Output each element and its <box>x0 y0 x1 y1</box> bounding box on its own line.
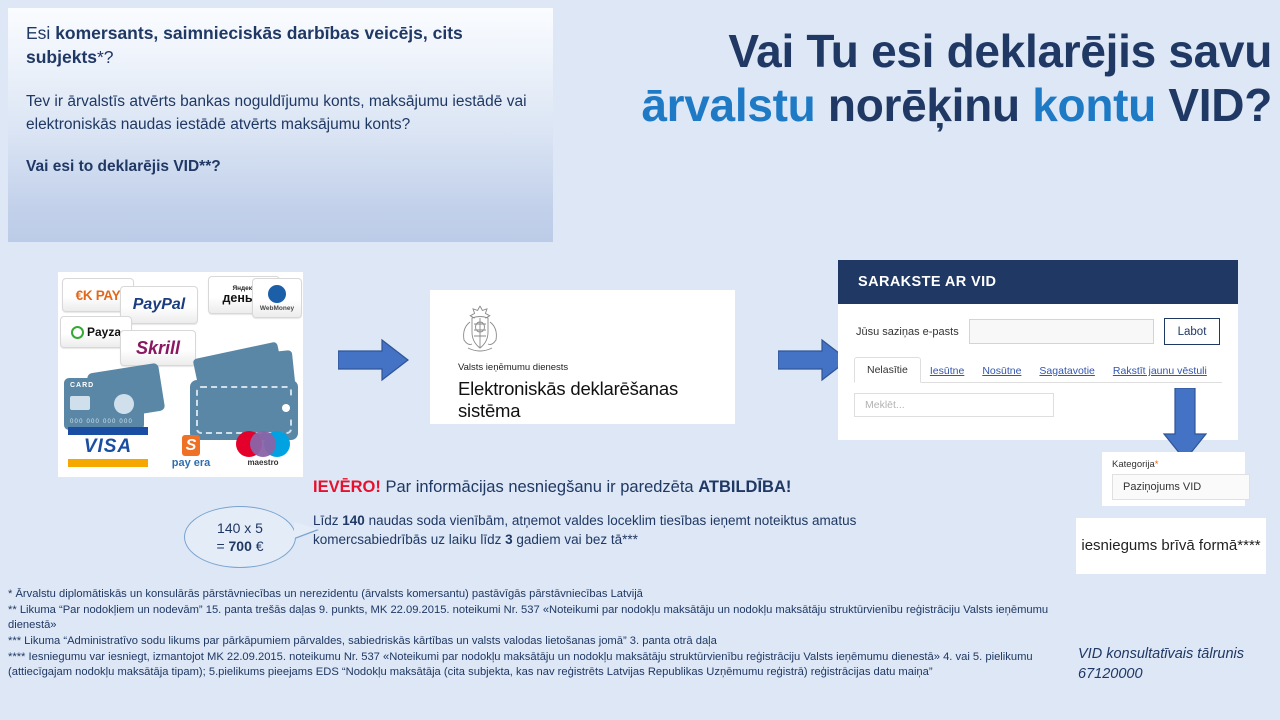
penalty-years: 3 <box>505 532 513 547</box>
headline-part-5: VID? <box>1156 79 1272 131</box>
intro-body-text: Tev ir ārvalstīs atvērts bankas noguldīj… <box>26 91 535 136</box>
webmoney-label: WebMoney <box>260 305 294 312</box>
visa-top-bar <box>68 427 148 435</box>
tab-sagatavotie[interactable]: Sagatavotie <box>1030 360 1103 382</box>
webmoney-globe-icon <box>268 285 286 303</box>
penalty-calculation-bubble: 140 x 5 = 700 € <box>184 506 296 568</box>
headline-part-3: norēķinu <box>815 79 1032 131</box>
visa-bottom-bar <box>68 459 148 467</box>
page-title: Vai Tu esi deklarējis savu ārvalstu norē… <box>566 24 1272 133</box>
penalty-post: gadiem vai bez tā*** <box>513 532 638 547</box>
tab-nelasitie[interactable]: Nelasītie <box>854 357 921 383</box>
card-chip-icon <box>70 396 90 410</box>
kategorija-select[interactable]: Paziņojums VID <box>1112 474 1250 500</box>
intro-question-box: Esi komersants, saimnieciskās darbības v… <box>8 8 553 242</box>
vid-email-label: Jūsu saziņas e-pasts <box>856 326 959 338</box>
notice-warning-word: IEVĒRO! <box>313 478 381 496</box>
bank-cards-illustration: CARD 000 000 000 000 <box>64 368 164 434</box>
card-globe-icon <box>114 394 134 414</box>
headline-highlight-kontu: kontu <box>1032 79 1156 131</box>
okpay-label: €K PAY <box>76 288 121 303</box>
bank-card-number: 000 000 000 000 <box>70 419 133 425</box>
payment-methods-collage: €K PAY PayPal Яндекс деньги WebMoney Pay… <box>58 272 303 477</box>
required-marker: * <box>1155 459 1159 470</box>
eds-logo-card: Valsts ieņēmumu dienests Elektroniskās d… <box>430 290 735 424</box>
bubble-line-2-pre: = <box>216 538 228 554</box>
maestro-circles-icon <box>236 431 290 457</box>
payza-circle-icon <box>71 326 84 339</box>
bubble-line-1: 140 x 5 <box>217 519 263 537</box>
intro-question-tail: *? <box>97 47 114 67</box>
paysera-logo: S pay era <box>158 435 224 469</box>
kategorija-panel: Kategorija* Paziņojums VID <box>1102 452 1245 506</box>
tab-nosutne[interactable]: Nosūtne <box>973 360 1030 382</box>
tab-rakstit-jaunu-vestuli[interactable]: Rakstīt jaunu vēstuli <box>1104 360 1216 382</box>
vid-email-input[interactable] <box>969 319 1154 344</box>
headline-highlight-arvalstu: ārvalstu <box>641 79 815 131</box>
skrill-logo: Skrill <box>120 330 196 366</box>
notice-headline: IEVĒRO! Par informācijas nesniegšanu ir … <box>313 478 953 497</box>
eds-organisation-name: Valsts ieņēmumu dienests <box>458 362 568 373</box>
paysera-mark-icon: S <box>182 435 200 456</box>
footnote-3: *** Likuma “Administratīvo sodu likums p… <box>8 634 1063 650</box>
bubble-text: 140 x 5 = 700 € <box>184 506 296 568</box>
webmoney-logo: WebMoney <box>252 278 302 318</box>
paypal-label: PayPal <box>133 296 185 314</box>
iesniegums-free-form-box: iesniegums brīvā formā**** <box>1076 518 1266 574</box>
notice-rest: Par informācijas nesniegšanu ir paredzēt… <box>381 478 698 496</box>
wallet-clasp-icon <box>278 398 296 418</box>
headline-part-1: Vai Tu esi deklarējis savu <box>728 25 1272 77</box>
vid-email-row: Jūsu saziņas e-pasts Labot <box>838 304 1238 345</box>
maestro-logo: maestro <box>230 429 296 469</box>
bank-card-front-icon: CARD 000 000 000 000 <box>64 378 144 430</box>
notice-bold-tail: ATBILDĪBA! <box>698 478 791 496</box>
penalty-units: 140 <box>342 513 365 528</box>
visa-logo: VISA <box>68 427 148 467</box>
visa-label: VISA <box>84 435 132 459</box>
penalty-description: Līdz 140 naudas soda vienībām, atņemot v… <box>313 511 973 549</box>
bubble-line-2-post: € <box>252 538 264 554</box>
arrow-down-icon <box>1162 388 1208 462</box>
vid-mail-tabs: Nelasītie Iesūtne Nosūtne Sagatavotie Ra… <box>854 357 1222 383</box>
footnote-2: ** Likuma “Par nodokļiem un nodevām” 15.… <box>8 603 1063 634</box>
intro-question-primary: Esi komersants, saimnieciskās darbības v… <box>26 22 535 69</box>
bubble-line-2-amount: 700 <box>229 538 252 554</box>
arrow-right-icon-1 <box>338 338 410 382</box>
vid-search-input[interactable]: Meklēt... <box>854 393 1054 417</box>
kategorija-label: Kategorija* <box>1112 459 1237 470</box>
intro-question-secondary: Vai esi to deklarējis VID**? <box>26 158 535 176</box>
vid-edit-button[interactable]: Labot <box>1164 318 1220 345</box>
maestro-label: maestro <box>247 458 278 467</box>
bubble-line-2: = 700 € <box>216 537 263 555</box>
paysera-label: pay era <box>172 457 211 469</box>
footnote-4: **** Iesniegumu var iesniegt, izmantojot… <box>8 650 1063 681</box>
payza-label: Payza <box>87 325 121 339</box>
eds-system-title: Elektroniskās deklarēšanas sistēma <box>458 378 735 422</box>
footnote-1: * Ārvalstu diplomātiskās un konsulārās p… <box>8 587 1063 603</box>
bank-card-label: CARD <box>70 382 94 389</box>
vid-panel-header: SARAKSTE AR VID <box>838 260 1238 304</box>
skrill-label: Skrill <box>136 338 180 359</box>
vid-consultation-phone: VID konsultatīvais tālrunis 67120000 <box>1078 645 1278 684</box>
intro-question-lead: Esi <box>26 23 55 43</box>
kategorija-label-text: Kategorija <box>1112 459 1155 470</box>
bubble-tail <box>294 522 318 538</box>
latvia-coat-of-arms-icon <box>458 304 502 360</box>
footnotes: * Ārvalstu diplomātiskās un konsulārās p… <box>8 587 1063 681</box>
intro-question-bold: komersants, saimnieciskās darbības veicē… <box>26 23 463 67</box>
tab-iesutne[interactable]: Iesūtne <box>921 360 973 382</box>
